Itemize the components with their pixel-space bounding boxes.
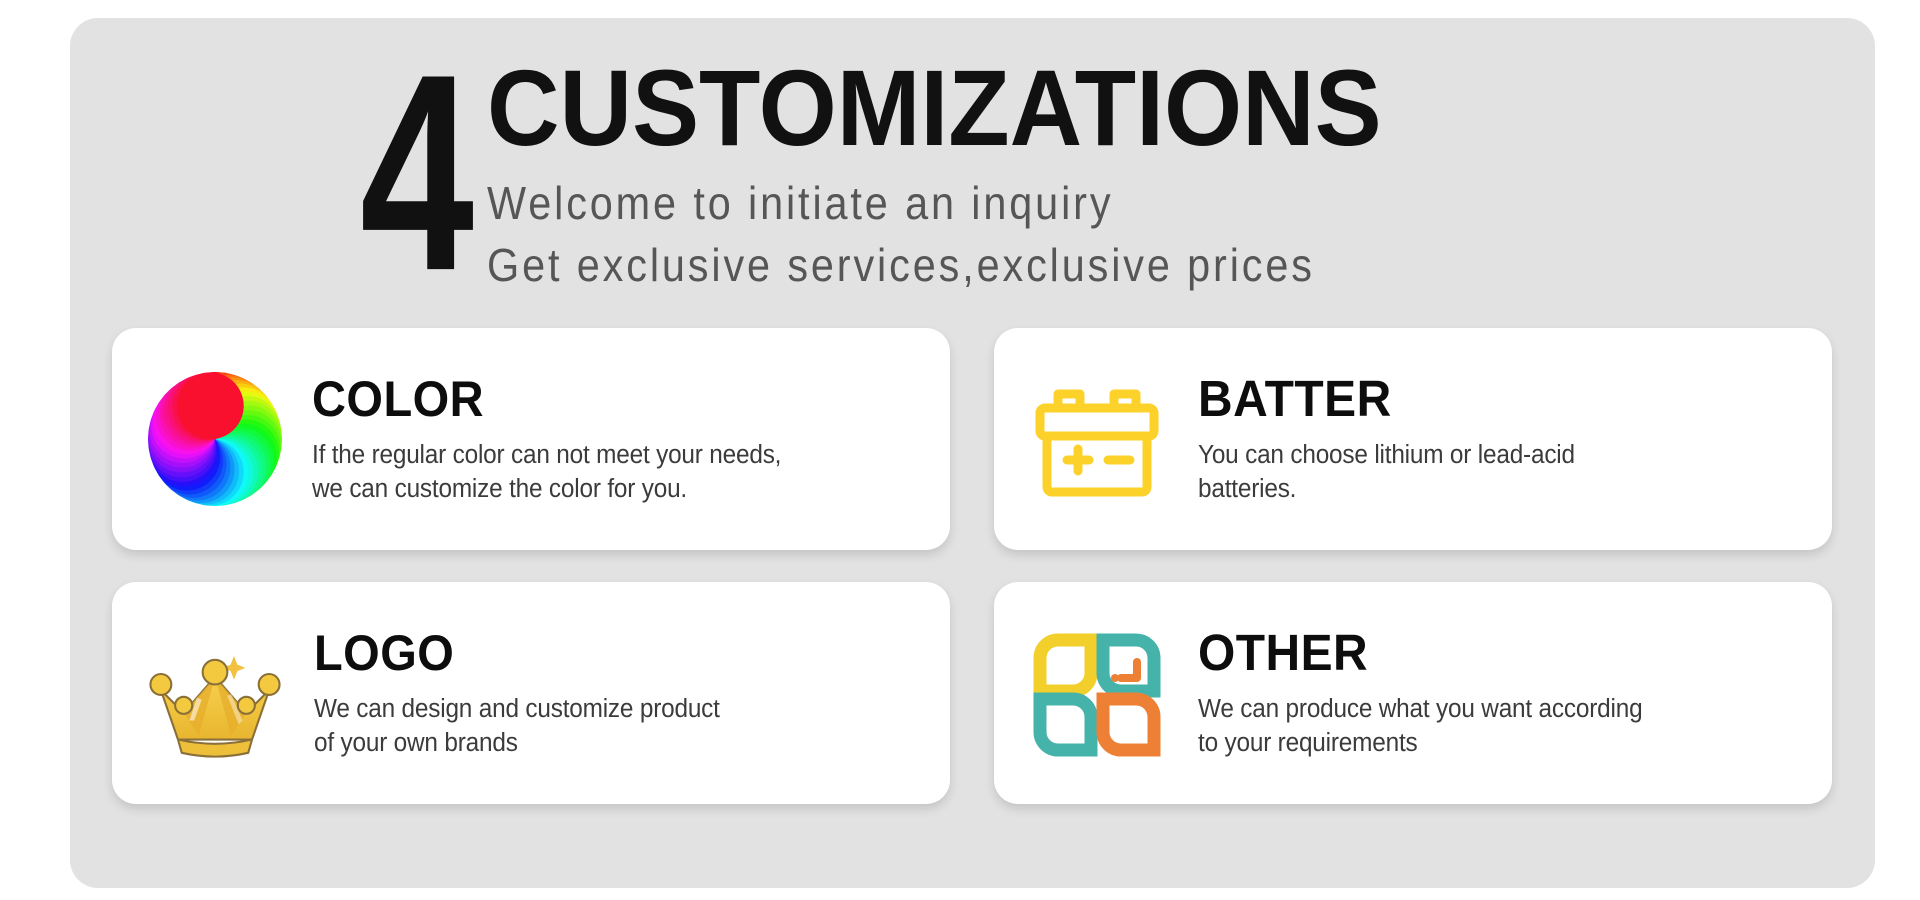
header-number: 4 (360, 44, 469, 302)
card-title-logo: LOGO (314, 626, 884, 680)
battery-icon (1022, 364, 1172, 514)
customization-card-other[interactable]: OTHER We can produce what you want accor… (994, 582, 1832, 804)
customization-card-color[interactable]: COLOR If the regular color can not meet … (112, 328, 950, 550)
header-subtitle-line-2: Get exclusive services,exclusive prices (487, 234, 1353, 296)
header-subtitle-line-1: Welcome to initiate an inquiry (487, 172, 1353, 234)
customization-card-grid: COLOR If the regular color can not meet … (112, 328, 1832, 804)
header-text-block: CUSTOMIZATIONS Welcome to initiate an in… (487, 38, 1449, 296)
page-title: CUSTOMIZATIONS (487, 54, 1382, 162)
card-body-other: OTHER We can produce what you want accor… (1172, 626, 1806, 760)
card-description-batter: You can choose lithium or lead-acid batt… (1198, 438, 1775, 506)
card-description-color: If the regular color can not meet your n… (312, 438, 893, 506)
color-wheel-icon (140, 364, 290, 514)
crown-icon (140, 618, 290, 768)
card-title-batter: BATTER (1198, 372, 1766, 426)
header-inner: 4 CUSTOMIZATIONS Welcome to initiate an … (360, 38, 1449, 296)
four-squares-icon (1022, 618, 1172, 768)
screenshot-canvas: 4 CUSTOMIZATIONS Welcome to initiate an … (0, 0, 1920, 900)
card-body-logo: LOGO We can design and customize product… (290, 626, 924, 760)
customization-card-batter[interactable]: BATTER You can choose lithium or lead-ac… (994, 328, 1832, 550)
card-body-batter: BATTER You can choose lithium or lead-ac… (1172, 372, 1806, 506)
customization-card-logo[interactable]: LOGO We can design and customize product… (112, 582, 950, 804)
card-title-other: OTHER (1198, 626, 1766, 680)
panel-header: 4 CUSTOMIZATIONS Welcome to initiate an … (70, 38, 1875, 318)
card-title-color: COLOR (312, 372, 884, 426)
card-description-logo: We can design and customize product of y… (314, 692, 893, 760)
customizations-panel: 4 CUSTOMIZATIONS Welcome to initiate an … (70, 18, 1875, 888)
card-description-other: We can produce what you want according t… (1198, 692, 1775, 760)
card-body-color: COLOR If the regular color can not meet … (290, 372, 924, 506)
